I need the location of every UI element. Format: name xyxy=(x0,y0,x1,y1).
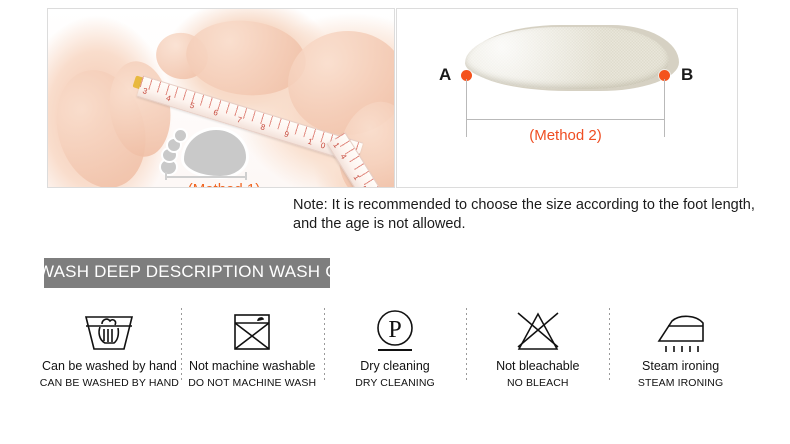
measurement-methods-section: 3 4 5 6 7 8 9 10 11 12 14 15 16 (Method … xyxy=(0,0,790,192)
care-label-sub: DRY CLEANING xyxy=(355,377,435,389)
no-bleach-icon xyxy=(512,306,564,358)
steam-iron-icon xyxy=(652,306,710,358)
wash-care-banner-title: WASH DEEP DESCRIPTION WASH CARE xyxy=(44,262,330,282)
wash-care-banner: WASH DEEP DESCRIPTION WASH CARE xyxy=(44,258,330,288)
care-label-sub: CAN BE WASHED BY HAND xyxy=(40,377,179,389)
care-label-main: Dry cleaning xyxy=(360,359,429,373)
method2-illustration: A B (Method 2) xyxy=(397,9,737,187)
point-b-label: B xyxy=(681,65,693,85)
size-note: Note: It is recommended to choose the si… xyxy=(293,196,780,234)
method2-measure-line xyxy=(466,119,665,120)
insole-shape xyxy=(465,27,669,89)
method1-measure-bar xyxy=(165,172,247,180)
no-machine-wash-icon xyxy=(228,306,276,358)
care-item-no-machine-wash: Not machine washable DO NOT MACHINE WASH xyxy=(181,306,324,398)
svg-text:P: P xyxy=(388,317,401,343)
method1-caption: (Method 1) xyxy=(159,181,289,188)
footprint-diagram: (Method 1) xyxy=(159,127,289,185)
method1-photo: 3 4 5 6 7 8 9 10 11 12 14 15 16 (Method … xyxy=(48,9,394,187)
care-label-main: Not machine washable xyxy=(189,359,315,373)
care-label-sub: DO NOT MACHINE WASH xyxy=(188,377,316,389)
hand-wash-icon xyxy=(82,306,136,358)
care-label-main: Steam ironing xyxy=(642,359,719,373)
care-instructions-row: Can be washed by hand CAN BE WASHED BY H… xyxy=(38,306,752,398)
care-item-steam-ironing: Steam ironing STEAM IRONING xyxy=(609,306,752,398)
method2-caption: (Method 2) xyxy=(466,127,665,144)
care-item-hand-wash: Can be washed by hand CAN BE WASHED BY H… xyxy=(38,306,181,398)
method1-panel: 3 4 5 6 7 8 9 10 11 12 14 15 16 (Method … xyxy=(47,8,395,188)
method2-panel: A B (Method 2) xyxy=(396,8,738,188)
care-label-sub: NO BLEACH xyxy=(507,377,569,389)
care-label-main: Can be washed by hand xyxy=(42,359,177,373)
care-label-sub: STEAM IRONING xyxy=(638,377,723,389)
care-item-dry-cleaning: P Dry cleaning DRY CLEANING xyxy=(324,306,467,398)
care-item-no-bleach: Not bleachable NO BLEACH xyxy=(466,306,609,398)
point-a-label: A xyxy=(439,65,451,85)
dry-clean-p-icon: P xyxy=(370,306,420,358)
care-label-main: Not bleachable xyxy=(496,359,579,373)
